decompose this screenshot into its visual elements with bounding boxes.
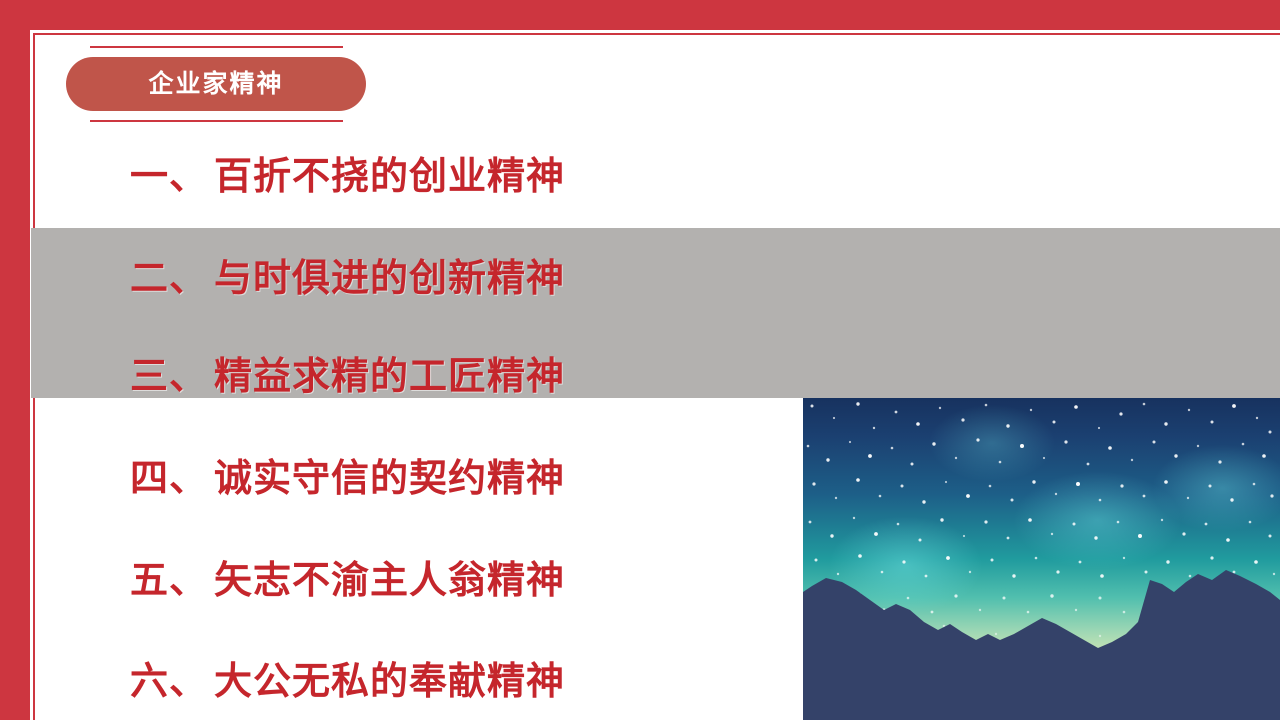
list-item[interactable]: 二、 与时俱进的创新精神 [130, 260, 565, 298]
list-item[interactable]: 六、 大公无私的奉献精神 [130, 663, 565, 701]
spirit-list: 一、 百折不挠的创业精神 二、 与时俱进的创新精神 三、 精益求精的工匠精神 四… [0, 0, 1280, 720]
list-item[interactable]: 一、 百折不挠的创业精神 [130, 158, 565, 196]
list-item-number: 二、 [130, 260, 214, 298]
list-item[interactable]: 三、 精益求精的工匠精神 [130, 358, 565, 396]
list-item-label: 精益求精的工匠精神 [214, 358, 565, 396]
list-item-number: 三、 [130, 358, 214, 396]
list-item-label: 与时俱进的创新精神 [214, 260, 565, 298]
slide-canvas: 企业家精神 [0, 0, 1280, 720]
list-item-label: 矢志不渝主人翁精神 [214, 562, 565, 600]
list-item-number: 四、 [130, 460, 214, 498]
list-item-number: 五、 [130, 562, 214, 600]
list-item-label: 大公无私的奉献精神 [214, 663, 565, 701]
list-item-number: 六、 [130, 663, 214, 701]
list-item-number: 一、 [130, 158, 214, 196]
list-item-label: 诚实守信的契约精神 [214, 460, 565, 498]
list-item[interactable]: 四、 诚实守信的契约精神 [130, 460, 565, 498]
list-item[interactable]: 五、 矢志不渝主人翁精神 [130, 562, 565, 600]
list-item-label: 百折不挠的创业精神 [214, 158, 565, 196]
